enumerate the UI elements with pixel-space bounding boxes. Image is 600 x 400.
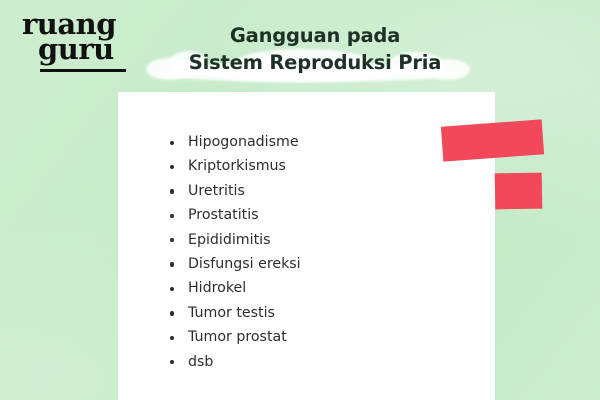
- red-rectangle-small: [495, 173, 543, 210]
- bullet-icon: [170, 238, 174, 242]
- slide-canvas: ruang guru Gangguan pada Sistem Reproduk…: [0, 0, 600, 400]
- red-rectangle-large: [441, 119, 544, 161]
- list-item-label: Kriptorkismus: [188, 158, 286, 174]
- list-item-label: Disfungsi ereksi: [188, 256, 301, 272]
- list-item-label: Tumor testis: [188, 305, 275, 321]
- list-item: Hidrokel: [168, 276, 301, 300]
- list-item: Disfungsi ereksi: [168, 252, 301, 276]
- list-item-label: Epididimitis: [188, 232, 270, 248]
- bullet-icon: [170, 360, 174, 364]
- bullet-icon: [170, 336, 174, 340]
- list-item: Tumor prostat: [168, 325, 301, 349]
- logo-line-2: guru: [22, 37, 126, 62]
- ruangguru-logo[interactable]: ruang guru: [22, 12, 126, 62]
- bullet-icon: [170, 141, 174, 145]
- bullet-icon: [170, 214, 174, 218]
- list-item: Uretritis: [168, 179, 301, 203]
- logo-underline-stroke: [40, 69, 126, 72]
- bullet-icon: [170, 165, 174, 169]
- list-item: Prostatitis: [168, 203, 301, 227]
- title-line-1: Gangguan pada: [150, 22, 480, 49]
- list-item-label: Tumor prostat: [188, 329, 287, 345]
- list-item: Hipogonadisme: [168, 130, 301, 154]
- list-item: Epididimitis: [168, 228, 301, 252]
- bullet-icon: [170, 262, 174, 266]
- page-title: Gangguan pada Sistem Reproduksi Pria: [150, 22, 480, 76]
- list-item-label: Prostatitis: [188, 207, 259, 223]
- list-item: dsb: [168, 350, 301, 374]
- title-line-2: Sistem Reproduksi Pria: [150, 49, 480, 76]
- list-item: Kriptorkismus: [168, 154, 301, 178]
- bullet-icon: [170, 287, 174, 291]
- list-item-label: Uretritis: [188, 183, 245, 199]
- list-item-label: Hidrokel: [188, 280, 246, 296]
- list-item-label: Hipogonadisme: [188, 134, 299, 150]
- list-item: Tumor testis: [168, 301, 301, 325]
- list-item-label: dsb: [188, 354, 213, 370]
- bullet-icon: [170, 189, 174, 193]
- bullet-icon: [170, 311, 174, 315]
- disorder-list: Hipogonadisme Kriptorkismus Uretritis Pr…: [168, 130, 301, 374]
